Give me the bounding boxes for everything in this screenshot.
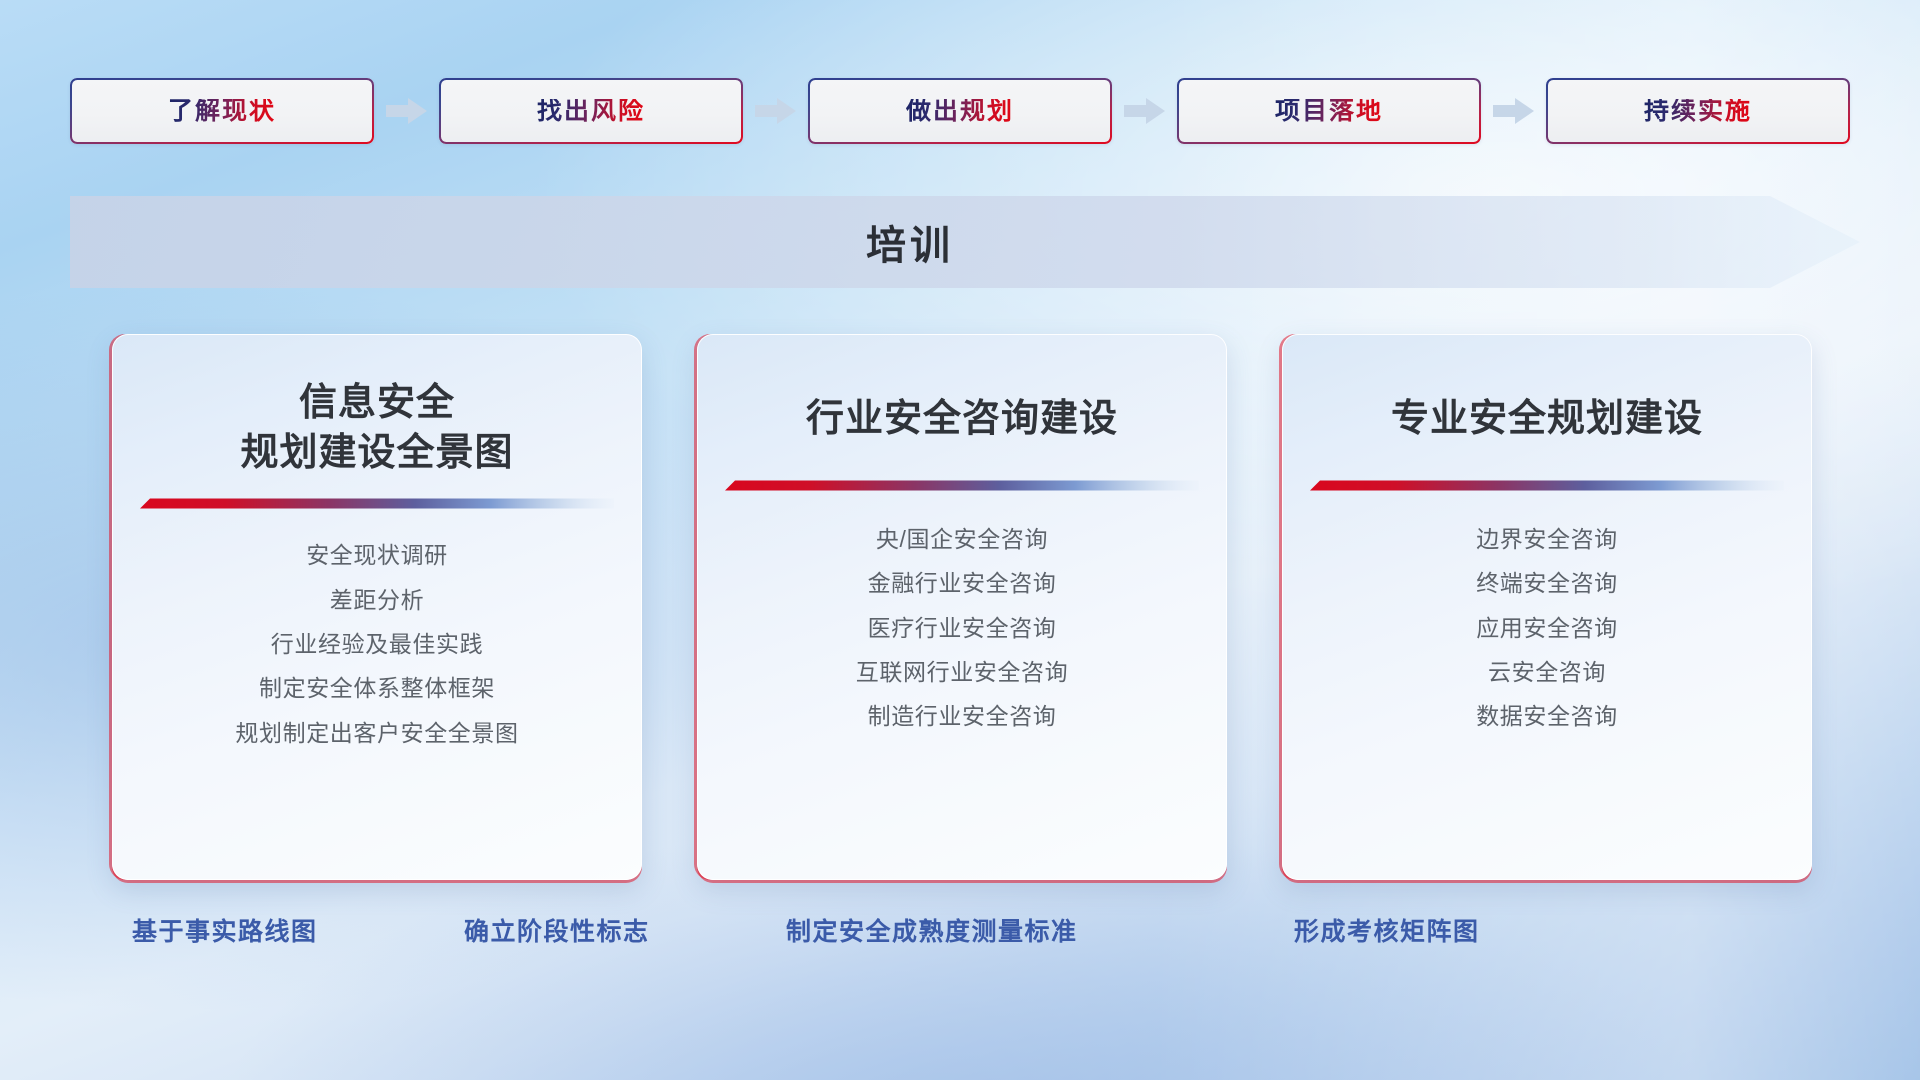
- step-box-1[interactable]: 找出风险: [439, 78, 743, 144]
- list-item: 制造行业安全咨询: [697, 704, 1227, 729]
- training-banner: 培训: [70, 196, 1860, 288]
- card-0-title: 信息安全 规划建设全景图: [112, 334, 642, 478]
- list-item: 互联网行业安全咨询: [697, 660, 1227, 685]
- step-label-1: 找出风险: [537, 99, 645, 124]
- card-1-title: 行业安全咨询建设: [697, 334, 1227, 444]
- step-wrap-2: 做出规划: [808, 78, 1112, 144]
- list-item: 应用安全咨询: [1282, 616, 1812, 641]
- list-item: 安全现状调研: [112, 543, 642, 568]
- card-row: 信息安全 规划建设全景图: [112, 334, 1812, 880]
- gradient-divider-icon: [725, 480, 1199, 491]
- list-item: 行业经验及最佳实践: [112, 632, 642, 657]
- card-0[interactable]: 信息安全 规划建设全景图: [112, 334, 642, 880]
- banner-title: 培训: [70, 196, 1750, 288]
- card-2[interactable]: 专业安全规划建设: [1282, 334, 1812, 880]
- step-label-3: 项目落地: [1275, 99, 1383, 124]
- step-wrap-3: 项目落地: [1177, 78, 1481, 144]
- arrow-right-icon: [1120, 96, 1170, 126]
- card-2-title: 专业安全规划建设: [1282, 334, 1812, 444]
- list-item: 差距分析: [112, 588, 642, 613]
- step-box-2[interactable]: 做出规划: [808, 78, 1112, 144]
- card-2-title-line1: 专业安全规划建设: [1391, 398, 1703, 440]
- list-item: 规划制定出客户安全全景图: [112, 721, 642, 746]
- step-box-3[interactable]: 项目落地: [1177, 78, 1481, 144]
- footer-label-0: 基于事实路线图: [132, 912, 318, 948]
- list-item: 金融行业安全咨询: [697, 571, 1227, 596]
- arrow-right-icon: [382, 96, 432, 126]
- step-label-0: 了解现状: [168, 99, 276, 124]
- list-item: 制定安全体系整体框架: [112, 676, 642, 701]
- card-1-list: 央/国企安全咨询 金融行业安全咨询 医疗行业安全咨询 互联网行业安全咨询 制造行…: [697, 527, 1227, 729]
- arrow-right-icon: [751, 96, 801, 126]
- list-item: 云安全咨询: [1282, 660, 1812, 685]
- step-wrap-1: 找出风险: [439, 78, 743, 144]
- step-wrap-0: 了解现状: [70, 78, 374, 144]
- step-label-4: 持续实施: [1644, 99, 1752, 124]
- list-item: 医疗行业安全咨询: [697, 616, 1227, 641]
- footer-label-3: 形成考核矩阵图: [1294, 912, 1480, 948]
- footer-label-row: 基于事实路线图 确立阶段性标志 制定安全成熟度测量标准 形成考核矩阵图: [0, 912, 1920, 958]
- step-box-0[interactable]: 了解现状: [70, 78, 374, 144]
- list-item: 边界安全咨询: [1282, 527, 1812, 552]
- card-1[interactable]: 行业安全咨询建设: [697, 334, 1227, 880]
- card-1-title-line1: 行业安全咨询建设: [806, 398, 1118, 440]
- card-0-title-line1: 信息安全: [299, 382, 455, 424]
- list-item: 央/国企安全咨询: [697, 527, 1227, 552]
- footer-label-1: 确立阶段性标志: [464, 912, 650, 948]
- list-item: 终端安全咨询: [1282, 571, 1812, 596]
- gradient-divider-icon: [140, 498, 614, 509]
- step-wrap-4: 持续实施: [1546, 78, 1850, 144]
- list-item: 数据安全咨询: [1282, 704, 1812, 729]
- card-0-title-line2: 规划建设全景图: [112, 428, 642, 478]
- step-label-2: 做出规划: [906, 99, 1014, 124]
- footer-label-2: 制定安全成熟度测量标准: [786, 912, 1078, 948]
- card-2-list: 边界安全咨询 终端安全咨询 应用安全咨询 云安全咨询 数据安全咨询: [1282, 527, 1812, 729]
- step-box-4[interactable]: 持续实施: [1546, 78, 1850, 144]
- process-step-row: 了解现状 找出风险 做出规划 项目落地: [70, 78, 1850, 144]
- card-0-list: 安全现状调研 差距分析 行业经验及最佳实践 制定安全体系整体框架 规划制定出客户…: [112, 543, 642, 745]
- slide-stage: 了解现状 找出风险 做出规划 项目落地: [0, 0, 1920, 1080]
- gradient-divider-icon: [1310, 480, 1784, 491]
- arrow-right-icon: [1489, 96, 1539, 126]
